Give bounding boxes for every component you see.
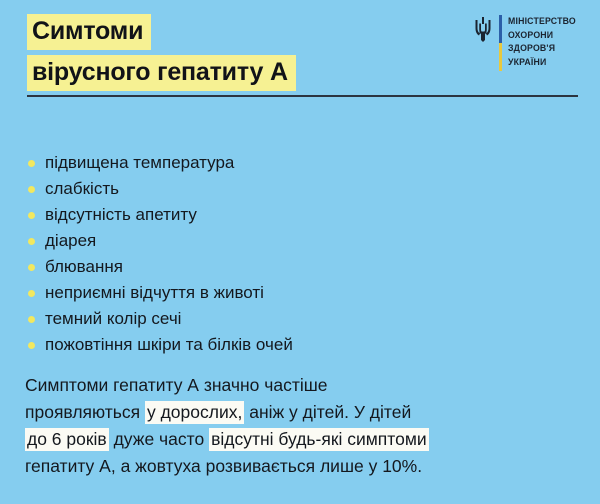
list-item-label: підвищена температура [45,153,234,172]
paragraph-line: Симптоми гепатиту А значно частіше [25,372,580,399]
list-item-label: пожовтіння шкіри та білків очей [45,335,293,354]
highlighted-text: відсутні будь-які симптоми [209,428,429,451]
header-divider [27,95,578,97]
highlighted-text: до 6 років [25,428,109,451]
page-title: Симтоми вірусного гепатиту А [27,14,457,91]
ministry-line-3: ЗДОРОВ'Я [508,42,576,56]
ministry-line-4: УКРАЇНИ [508,56,576,70]
list-item-label: слабкість [45,179,119,198]
list-item: підвищена температура [27,150,572,176]
paragraph-text: Симптоми гепатиту А значно частіше [25,375,328,395]
poster-header: Симтоми вірусного гепатиту А МІНІСТЕРСТВ… [0,0,600,100]
bullet-icon [28,212,35,219]
bullet-icon [28,342,35,349]
list-item: блювання [27,254,572,280]
list-item: неприємні відчуття в животі [27,280,572,306]
paragraph-line: проявляються у дорослих, аніж у дітей. У… [25,399,580,426]
infographic-poster: Симтоми вірусного гепатиту А МІНІСТЕРСТВ… [0,0,600,504]
highlighted-text: у дорослих, [145,401,244,424]
bullet-icon [28,316,35,323]
list-item-label: блювання [45,257,123,276]
flag-accent-bar [499,15,502,71]
paragraph-line: до 6 років дуже часто відсутні будь-які … [25,426,580,453]
bullet-icon [28,290,35,297]
list-item-label: діарея [45,231,96,250]
list-item-label: відсутність апетиту [45,205,197,224]
title-line-2: вірусного гепатиту А [27,55,296,91]
paragraph-line: гепатиту А, а жовтуха розвивається лише … [25,453,580,480]
paragraph-text: гепатиту А, а жовтуха розвивається лише … [25,456,422,476]
list-item: відсутність апетиту [27,202,572,228]
list-item-label: неприємні відчуття в животі [45,283,264,302]
list-item: пожовтіння шкіри та білків очей [27,332,572,358]
ukraine-trident-icon [473,16,493,42]
paragraph-text: дуже часто [109,429,209,449]
ministry-name: МІНІСТЕРСТВО ОХОРОНИ ЗДОРОВ'Я УКРАЇНИ [508,15,582,69]
bullet-icon [28,186,35,193]
paragraph-text: аніж у дітей. У дітей [244,402,411,422]
title-line-1: Симтоми [27,14,151,50]
bullet-icon [28,238,35,245]
ministry-line-1: МІНІСТЕРСТВО [508,15,576,29]
list-item-label: темний колір сечі [45,309,181,328]
symptom-list: підвищена температура слабкість відсутні… [27,150,572,358]
ministry-line-2: ОХОРОНИ [508,29,576,43]
paragraph-text: проявляються [25,402,145,422]
ministry-logo: МІНІСТЕРСТВО ОХОРОНИ ЗДОРОВ'Я УКРАЇНИ [473,14,582,71]
bullet-icon [28,160,35,167]
list-item: темний колір сечі [27,306,572,332]
list-item: слабкість [27,176,572,202]
bullet-icon [28,264,35,271]
summary-paragraph: Симптоми гепатиту А значно частішепроявл… [25,372,580,480]
list-item: діарея [27,228,572,254]
